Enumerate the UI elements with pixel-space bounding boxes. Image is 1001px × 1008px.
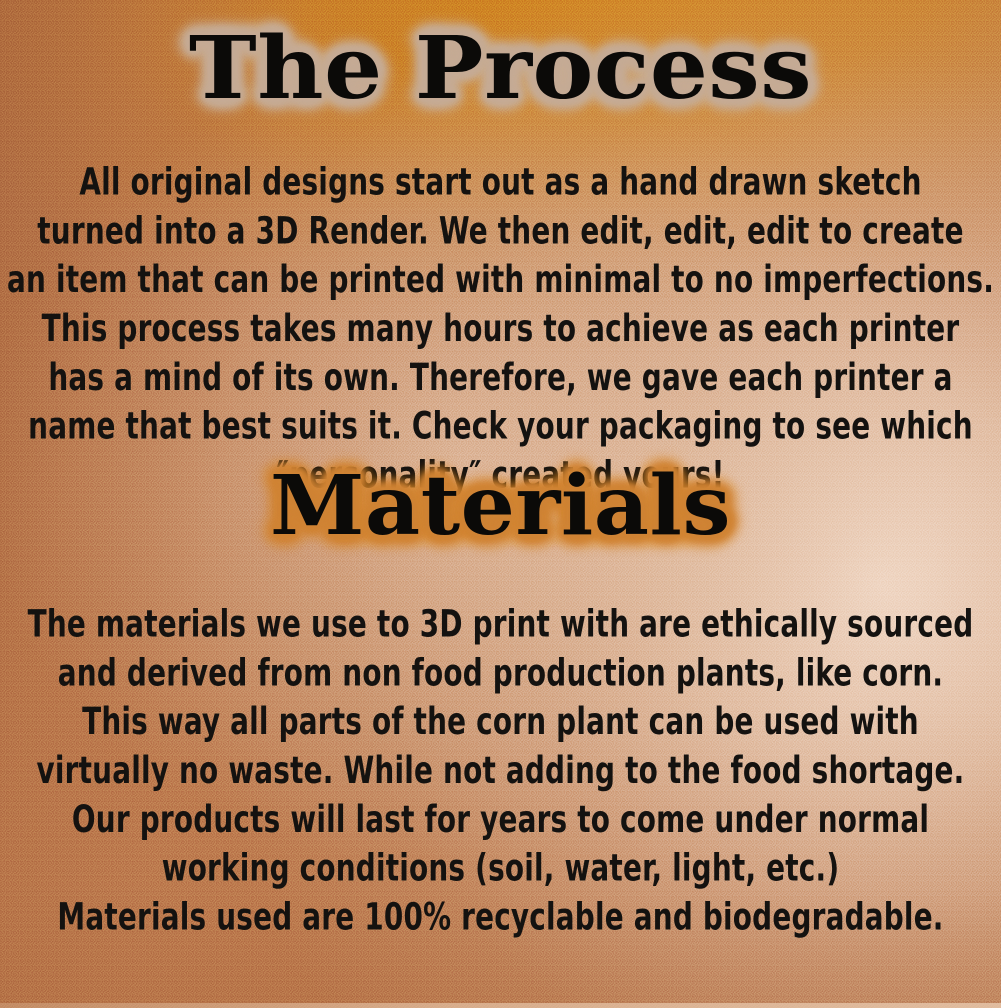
- poster-content: The Process All original designs start o…: [0, 0, 1001, 1008]
- body-text-the-process: All original designs start out as a hand…: [0, 158, 1001, 500]
- body-text-materials: The materials we use to 3D print with ar…: [0, 600, 1001, 942]
- heading-the-process: The Process: [0, 26, 1001, 112]
- poster-canvas: The Process All original designs start o…: [0, 0, 1001, 1008]
- heading-materials: Materials: [0, 465, 1001, 547]
